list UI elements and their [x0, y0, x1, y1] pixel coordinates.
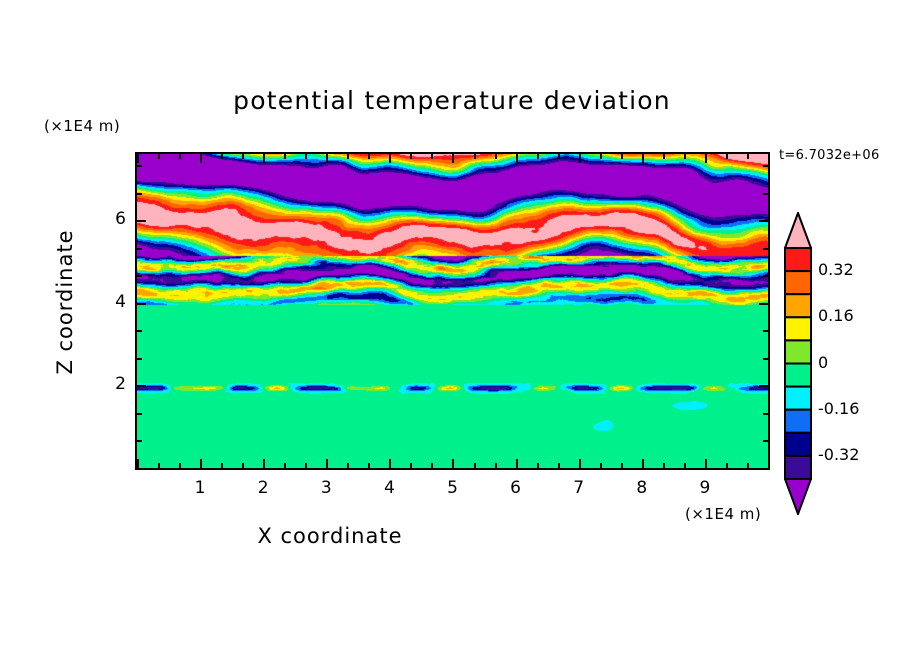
x-minor-tick	[242, 463, 244, 468]
x-major-tick	[579, 459, 581, 468]
x-major-tick	[452, 459, 454, 468]
y-major-tick	[137, 468, 146, 470]
x-tick-label: 2	[248, 478, 278, 498]
x-minor-tick	[684, 154, 686, 159]
x-minor-tick	[410, 463, 412, 468]
x-minor-tick	[663, 463, 665, 468]
y-minor-tick	[763, 165, 768, 167]
colorbar-tick-label: -0.32	[818, 445, 859, 464]
y-tick-label: 4	[96, 292, 126, 312]
x-minor-tick	[684, 463, 686, 468]
x-major-tick	[263, 154, 265, 163]
y-axis-title: Z coordinate	[53, 202, 77, 402]
x-major-tick	[389, 459, 391, 468]
y-tick-label: 2	[96, 374, 126, 394]
x-major-tick	[137, 154, 139, 163]
colorbar-tick-label: 0.16	[818, 306, 854, 325]
x-major-tick	[516, 459, 518, 468]
x-minor-tick	[347, 154, 349, 159]
x-minor-tick	[558, 463, 560, 468]
y-minor-tick	[137, 165, 142, 167]
x-major-tick	[263, 459, 265, 468]
z-axis-units-label: (×1E4 m)	[44, 117, 120, 135]
x-tick-label: 3	[311, 478, 341, 498]
x-minor-tick	[474, 463, 476, 468]
x-minor-tick	[747, 154, 749, 159]
x-major-tick	[516, 154, 518, 163]
x-minor-tick	[431, 154, 433, 159]
x-major-tick	[642, 459, 644, 468]
x-axis-title: X coordinate	[0, 524, 660, 548]
x-minor-tick	[179, 463, 181, 468]
y-minor-tick	[763, 248, 768, 250]
x-minor-tick	[179, 154, 181, 159]
x-minor-tick	[431, 463, 433, 468]
y-major-tick	[137, 385, 146, 387]
x-minor-tick	[537, 463, 539, 468]
y-minor-tick	[763, 275, 768, 277]
x-minor-tick	[495, 463, 497, 468]
y-major-tick	[759, 220, 768, 222]
x-minor-tick	[726, 463, 728, 468]
x-minor-tick	[410, 154, 412, 159]
x-minor-tick	[495, 154, 497, 159]
colorbar-tick-label: 0	[818, 353, 828, 372]
y-minor-tick	[763, 330, 768, 332]
x-tick-label: 1	[185, 478, 215, 498]
x-minor-tick	[368, 463, 370, 468]
x-tick-label: 8	[627, 478, 657, 498]
y-minor-tick	[763, 413, 768, 415]
y-minor-tick	[763, 358, 768, 360]
x-axis-units-label: (×1E4 m)	[685, 505, 761, 523]
x-minor-tick	[284, 154, 286, 159]
y-major-tick	[137, 220, 146, 222]
contour-field	[137, 154, 768, 468]
x-minor-tick	[242, 154, 244, 159]
colorbar-tick-label: 0.32	[818, 260, 854, 279]
x-major-tick	[200, 459, 202, 468]
x-minor-tick	[537, 154, 539, 159]
x-minor-tick	[600, 154, 602, 159]
contour-plot-area	[135, 152, 770, 470]
x-major-tick	[326, 459, 328, 468]
x-major-tick	[579, 154, 581, 163]
x-minor-tick	[284, 463, 286, 468]
y-minor-tick	[137, 330, 142, 332]
x-minor-tick	[158, 463, 160, 468]
x-major-tick	[326, 154, 328, 163]
colorbar	[784, 212, 812, 515]
y-tick-label: 6	[96, 209, 126, 229]
x-major-tick	[200, 154, 202, 163]
y-major-tick	[759, 303, 768, 305]
x-minor-tick	[221, 154, 223, 159]
x-minor-tick	[726, 154, 728, 159]
x-tick-label: 6	[501, 478, 531, 498]
x-minor-tick	[305, 154, 307, 159]
y-minor-tick	[763, 193, 768, 195]
y-minor-tick	[137, 275, 142, 277]
x-minor-tick	[368, 154, 370, 159]
x-major-tick	[768, 154, 770, 163]
y-minor-tick	[137, 248, 142, 250]
x-major-tick	[768, 459, 770, 468]
x-tick-label: 5	[438, 478, 468, 498]
figure-canvas: potential temperature deviation (×1E4 m)…	[0, 0, 904, 654]
x-minor-tick	[600, 463, 602, 468]
x-major-tick	[137, 459, 139, 468]
x-major-tick	[642, 154, 644, 163]
y-minor-tick	[137, 440, 142, 442]
x-tick-label: 7	[564, 478, 594, 498]
x-minor-tick	[221, 463, 223, 468]
x-major-tick	[389, 154, 391, 163]
x-major-tick	[452, 154, 454, 163]
timestamp-annotation: t=6.7032e+06	[779, 148, 880, 163]
x-minor-tick	[158, 154, 160, 159]
x-minor-tick	[621, 463, 623, 468]
y-major-tick	[137, 303, 146, 305]
x-minor-tick	[663, 154, 665, 159]
x-minor-tick	[621, 154, 623, 159]
y-major-tick	[759, 468, 768, 470]
x-minor-tick	[558, 154, 560, 159]
x-minor-tick	[305, 463, 307, 468]
x-tick-label: 4	[374, 478, 404, 498]
x-minor-tick	[347, 463, 349, 468]
chart-title: potential temperature deviation	[0, 86, 904, 115]
y-minor-tick	[763, 440, 768, 442]
y-minor-tick	[137, 413, 142, 415]
x-tick-label: 9	[690, 478, 720, 498]
y-major-tick	[759, 385, 768, 387]
colorbar-tick-label: -0.16	[818, 399, 859, 418]
x-minor-tick	[747, 463, 749, 468]
x-minor-tick	[474, 154, 476, 159]
x-major-tick	[705, 154, 707, 163]
x-major-tick	[705, 459, 707, 468]
y-minor-tick	[137, 193, 142, 195]
y-minor-tick	[137, 358, 142, 360]
colorbar-swatches	[784, 212, 812, 515]
